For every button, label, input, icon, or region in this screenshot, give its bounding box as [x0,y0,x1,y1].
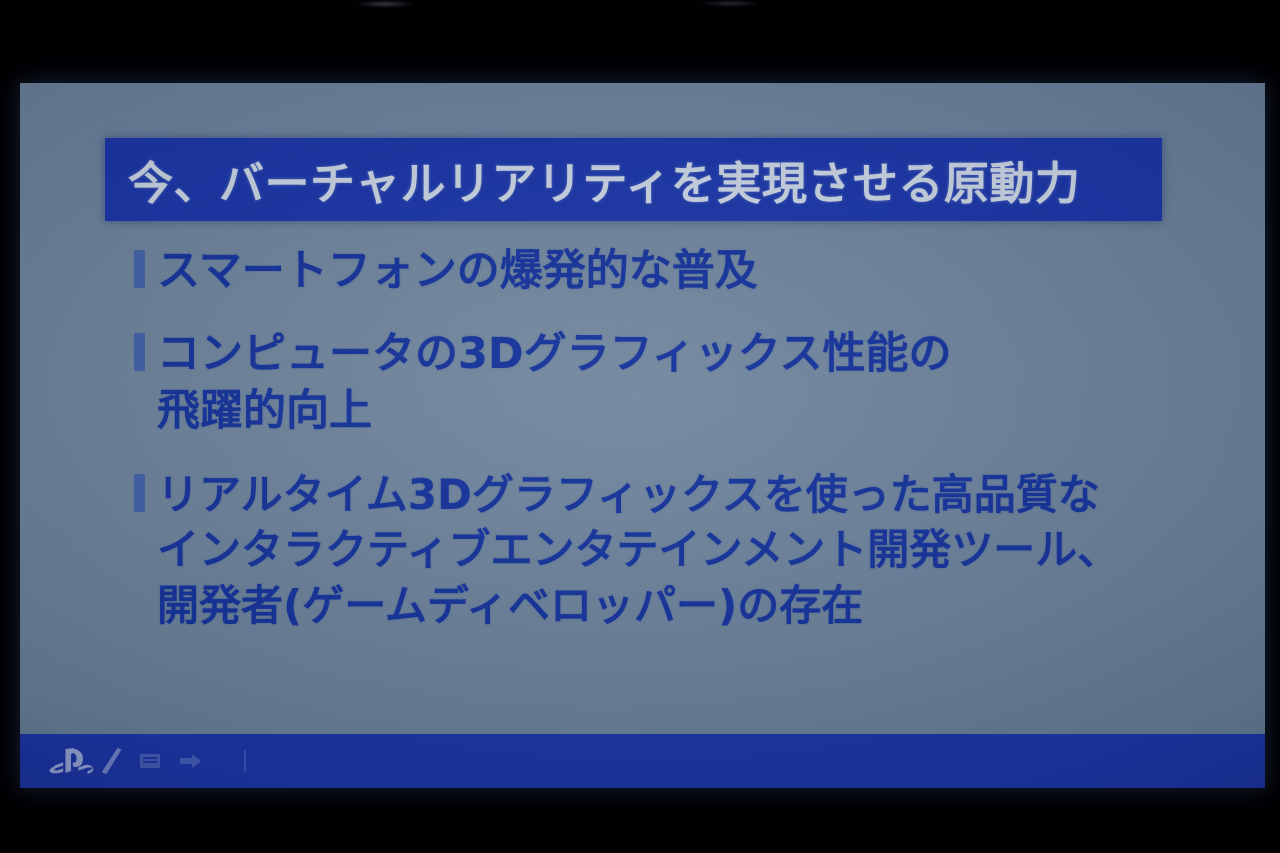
bullet-item-1: スマートフォンの爆発的な普及 [134,243,1225,300]
ceiling-light-glow-right [700,0,760,7]
bullet-item-3: リアルタイム3Dグラフィックスを使った高品質な インタラクティブエンタテインメン… [134,467,1225,635]
ceiling-light-glow-left [355,0,415,8]
bullet-bar-icon [134,474,145,512]
slide-body: スマートフォンの爆発的な普及 コンピュータの3Dグラフィックス性能の 飛躍的向上… [134,243,1225,660]
bullet-line: スマートフォンの爆発的な普及 [157,243,1225,300]
bullet-text-1: スマートフォンの爆発的な普及 [157,243,1225,300]
bullet-line: インタラクティブエンタテインメント開発ツール、 [157,522,1225,578]
slash-mark-icon [98,746,124,776]
bullet-line: 飛躍的向上 [157,383,1225,440]
slide-footer-bar [20,734,1265,788]
slide-title: 今、バーチャルリアリティを実現させる原動力 [128,147,1080,212]
bullet-line: 開発者(ゲームディベロッパー)の存在 [157,578,1225,634]
presentation-slide: 今、バーチャルリアリティを実現させる原動力 スマートフォンの爆発的な普及 コンピ… [20,83,1265,788]
document-icon [138,752,162,770]
bullet-line: リアルタイム3Dグラフィックスを使った高品質な [157,467,1225,523]
bullet-text-2: コンピュータの3Dグラフィックス性能の 飛躍的向上 [157,326,1225,440]
slide-title-band: 今、バーチャルリアリティを実現させる原動力 [105,138,1162,221]
bullet-line: コンピュータの3Dグラフィックス性能の [157,326,1225,383]
bullet-bar-icon [134,333,145,371]
bullet-bar-icon [134,250,145,288]
bullet-item-2: コンピュータの3Dグラフィックス性能の 飛躍的向上 [134,326,1225,440]
bullet-text-3: リアルタイム3Dグラフィックスを使った高品質な インタラクティブエンタテインメン… [157,467,1225,635]
arrow-right-icon [178,752,202,770]
footer-divider [244,750,246,772]
projection-stage: 今、バーチャルリアリティを実現させる原動力 スマートフォンの爆発的な普及 コンピ… [0,0,1280,853]
playstation-logo-icon [48,746,94,776]
